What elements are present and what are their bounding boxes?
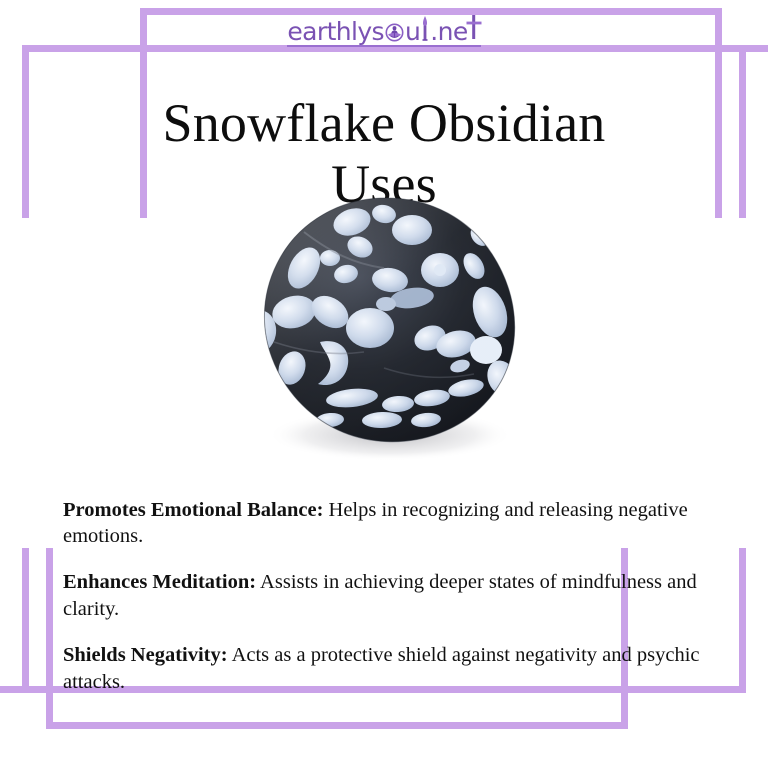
frame-bar-outer-bottom-left-vertical bbox=[46, 548, 53, 729]
page-title-line-1: Snowflake Obsidian bbox=[162, 93, 605, 153]
frame-bar-inner-bottom-right-vertical bbox=[739, 548, 746, 693]
list-item: Enhances Meditation: Assists in achievin… bbox=[63, 569, 708, 621]
frame-bar-outer-bottom bbox=[46, 722, 628, 729]
site-logo-text[interactable]: earthlys u bbox=[287, 14, 480, 47]
list-item-lead: Enhances Meditation: bbox=[63, 571, 256, 593]
candle-icon bbox=[420, 14, 430, 40]
stone-image bbox=[0, 192, 768, 460]
infographic-poster: earthlys u bbox=[0, 0, 768, 768]
list-item-lead: Shields Negativity: bbox=[63, 644, 228, 666]
cross-icon bbox=[468, 14, 481, 40]
site-logo-text-part-3: .ne bbox=[430, 19, 467, 44]
site-logo-text-part-1: earthlys bbox=[287, 19, 384, 44]
lotus-figure-icon bbox=[384, 14, 405, 40]
frame-bar-inner-bottom-left-vertical bbox=[22, 548, 29, 693]
site-logo-text-part-2: u bbox=[405, 19, 420, 44]
list-item-lead: Promotes Emotional Balance: bbox=[63, 499, 323, 521]
site-logo[interactable]: earthlys u bbox=[0, 14, 768, 47]
snowflake-obsidian-illustration bbox=[234, 192, 534, 460]
uses-list: Promotes Emotional Balance: Helps in rec… bbox=[63, 476, 708, 695]
list-item: Shields Negativity: Acts as a protective… bbox=[63, 642, 708, 694]
list-item: Promotes Emotional Balance: Helps in rec… bbox=[63, 497, 708, 549]
